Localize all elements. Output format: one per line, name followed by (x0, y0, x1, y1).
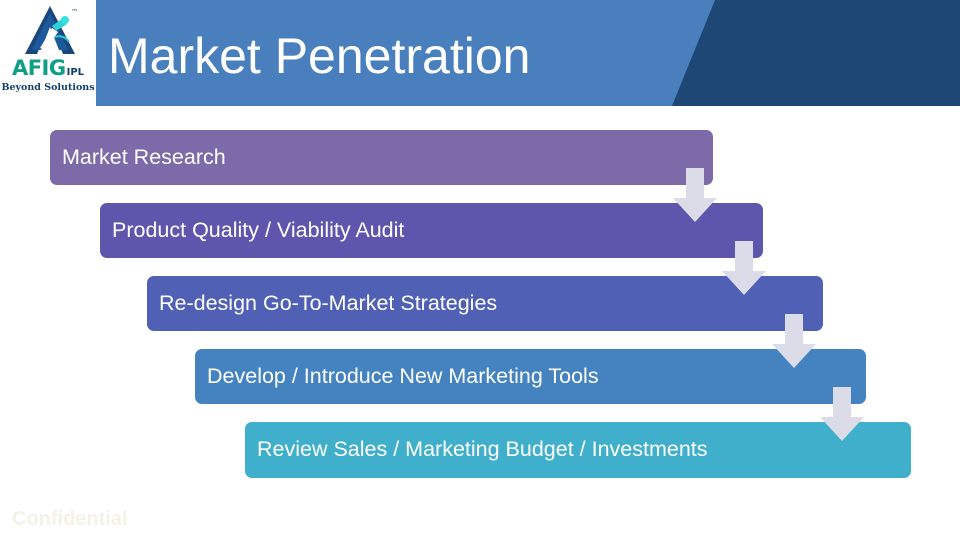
confidential-watermark: Confidential (12, 508, 128, 531)
funnel-stage-bar[interactable]: Market Research (50, 130, 713, 185)
logo-suffix-text: IPL (67, 68, 84, 77)
logo-wordmark: AFIGIPL (6, 56, 90, 80)
arrow-strategies-to-tools-icon (771, 314, 817, 369)
afig-a-monogram-icon: ™ (22, 4, 78, 56)
arrow-research-to-audit-icon (672, 168, 718, 223)
svg-text:™: ™ (71, 8, 78, 16)
logo-plate: ™ AFIGIPL Beyond Solutions (0, 0, 96, 106)
arrow-tools-to-budget-icon (819, 387, 865, 442)
funnel-stage-label: Review Sales / Marketing Budget / Invest… (245, 439, 708, 461)
funnel-stage-label: Re-design Go-To-Market Strategies (147, 293, 497, 315)
funnel-stage-label: Market Research (50, 147, 226, 169)
funnel-stage-label: Develop / Introduce New Marketing Tools (195, 366, 599, 388)
logo-tagline: Beyond Solutions (0, 82, 96, 93)
funnel-stage-label: Product Quality / Viability Audit (100, 220, 404, 242)
page-title: Market Penetration (108, 27, 530, 85)
funnel-stage-bar[interactable]: Develop / Introduce New Marketing Tools (195, 349, 866, 404)
logo-brand-text: AFIG (12, 56, 66, 80)
arrow-audit-to-strategies-icon (721, 241, 767, 296)
funnel-stage-bar[interactable]: Product Quality / Viability Audit (100, 203, 763, 258)
funnel-stage-bar[interactable]: Review Sales / Marketing Budget / Invest… (245, 422, 911, 478)
